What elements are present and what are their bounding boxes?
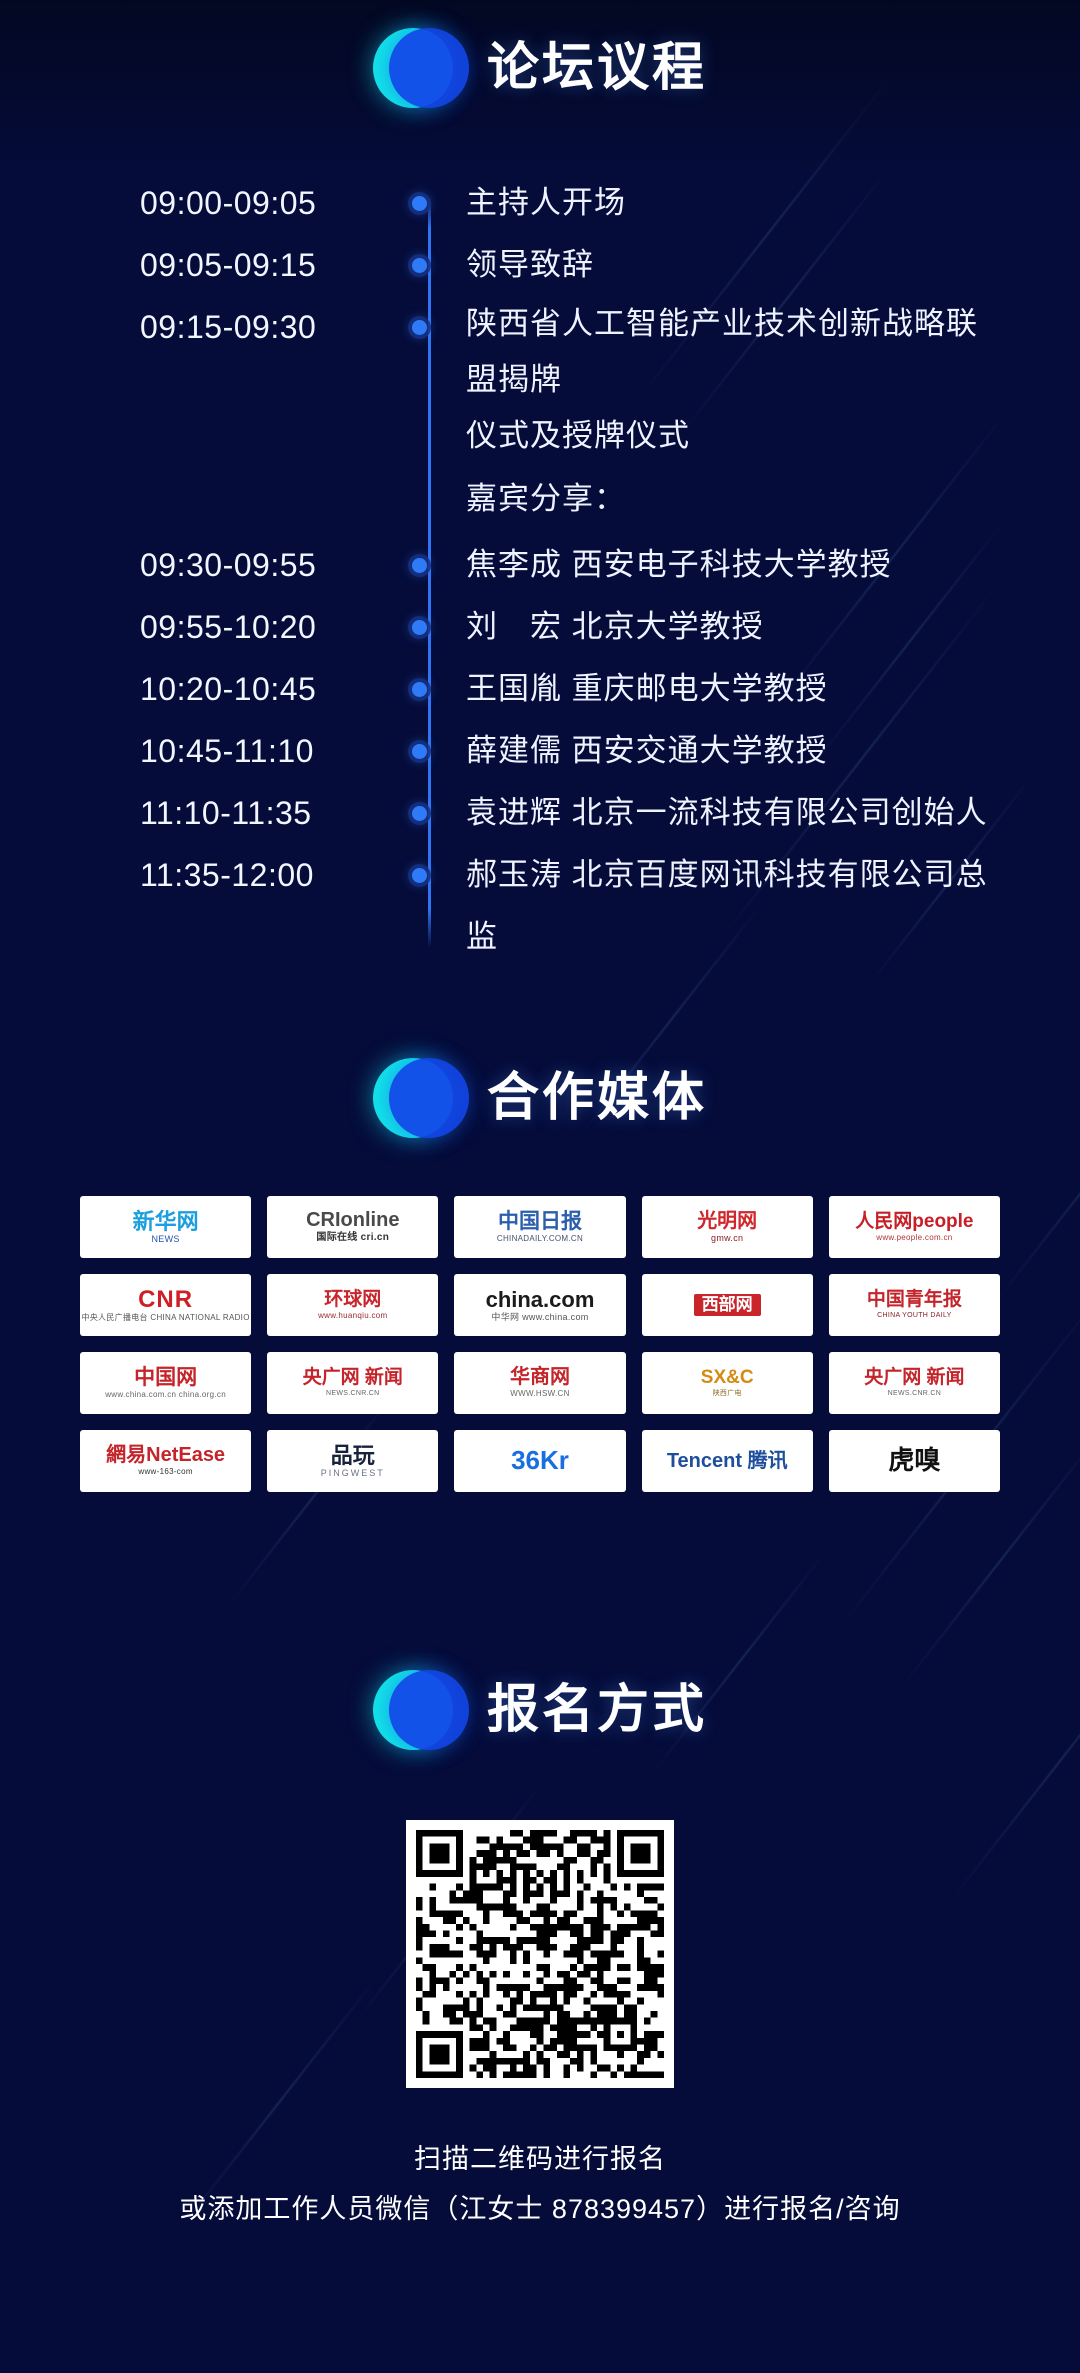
agenda-row: 09:00-09:05主持人开场 — [80, 172, 1000, 234]
media-section: 合作媒体 新华网NEWSCRIonline国际在线 cri.cn中国日报CHIN… — [0, 1058, 1080, 1492]
media-logo-sub: CHINADAILY.COM.CN — [497, 1235, 583, 1243]
media-logo-xibu-icon: 西部网 — [694, 1294, 761, 1316]
overlapping-circles-logo-icon — [373, 1058, 469, 1138]
media-logo-name: 網易NetEase — [106, 1445, 225, 1466]
timeline-dot-icon — [412, 744, 427, 759]
agenda-row: 09:15-09:30陕西省人工智能产业技术创新战略联盟揭牌 仪式及授牌仪式 — [80, 296, 1000, 464]
agenda-row-time: 09:00-09:05 — [80, 172, 396, 234]
registration-qr-code[interactable] — [406, 1820, 674, 2088]
agenda-row-marker — [396, 534, 460, 596]
media-logo-card[interactable]: china.com中华网 www.china.com — [454, 1274, 625, 1336]
media-header: 合作媒体 — [0, 1058, 1080, 1138]
media-logo-name: CNR — [138, 1287, 193, 1312]
media-logo-name: 品玩 — [331, 1444, 375, 1467]
media-logo-card[interactable]: 央广网 新闻NEWS.CNR.CN — [267, 1352, 438, 1414]
register-notes: 扫描二维码进行报名或添加工作人员微信（江女士 878399457）进行报名/咨询 — [0, 2134, 1080, 2234]
media-logo-sxgc-icon: SX&C陕西广电 — [701, 1368, 754, 1397]
media-logo-name: 中国青年报 — [867, 1290, 962, 1310]
overlapping-circles-logo-icon — [373, 28, 469, 108]
media-logo-card[interactable]: 36Kr — [454, 1430, 625, 1492]
timeline-dot-icon — [412, 258, 427, 273]
media-logo-sub: 中央人民广播电台 CHINA NATIONAL RADIO — [81, 1314, 249, 1322]
agenda-row-marker — [396, 596, 460, 658]
media-logo-tencent-icon: Tencent 腾讯 — [667, 1451, 788, 1472]
agenda-row-marker — [396, 720, 460, 782]
media-logo-sub: NEWS — [151, 1235, 179, 1244]
timeline-dot-icon — [412, 806, 427, 821]
media-logo-huxiu-icon: 虎嗅 — [888, 1447, 940, 1474]
media-logo-sub: CHINA YOUTH DAILY — [877, 1312, 951, 1319]
media-logo-name: Tencent 腾讯 — [667, 1451, 788, 1472]
media-logo-yangguang2-icon: 央广网 新闻NEWS.CNR.CN — [864, 1368, 964, 1397]
media-logo-sub: 国际在线 cri.cn — [316, 1233, 389, 1244]
media-logo-card[interactable]: 虎嗅 — [829, 1430, 1000, 1492]
media-logo-chinacom-icon: china.com中华网 www.china.com — [486, 1288, 595, 1323]
media-logo-chinadaily-icon: 中国日报CHINADAILY.COM.CN — [497, 1211, 583, 1243]
media-logo-card[interactable]: SX&C陕西广电 — [642, 1352, 813, 1414]
register-section: 报名方式 扫描二维码进行报名或添加工作人员微信（江女士 878399457）进行… — [0, 1670, 1080, 2234]
agenda-row-marker — [396, 464, 460, 526]
agenda-row-marker — [396, 296, 460, 358]
media-logo-name: CRIonline — [306, 1210, 399, 1231]
agenda-row-marker — [396, 234, 460, 296]
media-logo-name: 央广网 新闻 — [864, 1368, 964, 1388]
media-logo-xinhua-icon: 新华网NEWS — [133, 1210, 199, 1245]
agenda-row-text: 袁进辉 北京一流科技有限公司创始人 — [460, 782, 1000, 844]
register-note-line: 扫描二维码进行报名 — [0, 2134, 1080, 2184]
media-logo-sub: 陕西广电 — [713, 1390, 742, 1397]
timeline-dot-icon — [412, 558, 427, 573]
agenda-row-time: 11:35-12:00 — [80, 844, 396, 906]
overlapping-circles-logo-icon — [373, 1670, 469, 1750]
media-logo-36kr-icon: 36Kr — [511, 1447, 569, 1474]
timeline-dot-icon — [412, 620, 427, 635]
agenda-row-time: 09:55-10:20 — [80, 596, 396, 658]
timeline-dot-icon — [412, 868, 427, 883]
agenda-row-marker — [396, 172, 460, 234]
agenda-row: 09:30-09:55焦李成 西安电子科技大学教授 — [80, 534, 1000, 596]
media-logo-card[interactable]: 西部网 — [642, 1274, 813, 1336]
media-logo-card[interactable]: 中国网www.china.com.cn china.org.cn — [80, 1352, 251, 1414]
media-logo-card[interactable]: Tencent 腾讯 — [642, 1430, 813, 1492]
media-logo-sub: www.huanqiu.com — [318, 1312, 387, 1320]
media-logo-card[interactable]: 網易NetEasewww-163-com — [80, 1430, 251, 1492]
agenda-row: 11:10-11:35袁进辉 北京一流科技有限公司创始人 — [80, 782, 1000, 844]
timeline-dot-icon — [412, 196, 427, 211]
media-logo-card[interactable]: 中国日报CHINADAILY.COM.CN — [454, 1196, 625, 1258]
media-logo-cri-icon: CRIonline国际在线 cri.cn — [306, 1210, 399, 1244]
media-logo-yangguang-icon: 央广网 新闻NEWS.CNR.CN — [303, 1368, 403, 1397]
media-logo-card[interactable]: 央广网 新闻NEWS.CNR.CN — [829, 1352, 1000, 1414]
agenda-row-time: 10:45-11:10 — [80, 720, 396, 782]
media-logo-name: 央广网 新闻 — [303, 1368, 403, 1388]
media-logo-gmw-icon: 光明网gmw.cn — [697, 1211, 757, 1243]
media-logo-card[interactable]: 环球网www.huanqiu.com — [267, 1274, 438, 1336]
agenda-row-marker — [396, 844, 460, 906]
media-logo-chinanet-icon: 中国网www.china.com.cn china.org.cn — [105, 1367, 226, 1399]
media-logo-sub: www.people.com.cn — [876, 1234, 952, 1242]
media-logo-pingwest-icon: 品玩PINGWEST — [321, 1444, 385, 1479]
timeline-dot-icon — [412, 320, 427, 335]
media-logo-name: 西部网 — [694, 1294, 761, 1316]
agenda-row-text: 嘉宾分享： — [460, 464, 1000, 534]
agenda-row-time: 09:30-09:55 — [80, 534, 396, 596]
media-logo-name: 新华网 — [133, 1210, 199, 1233]
media-logo-name: 中国日报 — [498, 1211, 582, 1233]
media-logo-name: 36Kr — [511, 1447, 569, 1474]
agenda-section: 论坛议程 09:00-09:05主持人开场09:05-09:15领导致辞09:1… — [0, 28, 1080, 968]
media-title: 合作媒体 — [487, 1072, 707, 1124]
agenda-title: 论坛议程 — [487, 42, 707, 94]
media-logo-card[interactable]: 华商网WWW.HSW.CN — [454, 1352, 625, 1414]
timeline-dot-icon — [412, 682, 427, 697]
agenda-row-text: 焦李成 西安电子科技大学教授 — [460, 534, 1000, 596]
agenda-row: 10:45-11:10薛建儒 西安交通大学教授 — [80, 720, 1000, 782]
media-logo-hsw-icon: 华商网WWW.HSW.CN — [510, 1367, 570, 1398]
agenda-row-time: 09:05-09:15 — [80, 234, 396, 296]
media-logo-card[interactable]: 新华网NEWS — [80, 1196, 251, 1258]
media-logo-sub: NEWS.CNR.CN — [888, 1390, 941, 1397]
agenda-row-text: 薛建儒 西安交通大学教授 — [460, 720, 1000, 782]
media-logo-name: 环球网 — [324, 1290, 381, 1310]
agenda-row-text: 陕西省人工智能产业技术创新战略联盟揭牌 仪式及授牌仪式 — [460, 296, 1000, 464]
agenda-row: 嘉宾分享： — [80, 464, 1000, 534]
agenda-row-text: 主持人开场 — [460, 172, 1000, 234]
media-logo-name: 人民网people — [855, 1212, 973, 1232]
media-logo-name: 虎嗅 — [888, 1447, 940, 1474]
agenda-row-text: 刘 宏 北京大学教授 — [460, 596, 1000, 658]
media-logo-card[interactable]: 人民网peoplewww.people.com.cn — [829, 1196, 1000, 1258]
agenda-row-time: 10:20-10:45 — [80, 658, 396, 720]
media-logo-sub: PINGWEST — [321, 1469, 385, 1478]
media-logo-sub: www-163-com — [138, 1468, 192, 1476]
media-logo-sub: NEWS.CNR.CN — [326, 1390, 379, 1397]
agenda-row-text: 王国胤 重庆邮电大学教授 — [460, 658, 1000, 720]
media-logo-name: 华商网 — [510, 1367, 570, 1388]
agenda-row-marker — [396, 658, 460, 720]
agenda-row-text: 领导致辞 — [460, 234, 1000, 296]
agenda-row: 11:35-12:00郝玉涛 北京百度网讯科技有限公司总监 — [80, 844, 1000, 968]
media-logo-name: 光明网 — [697, 1211, 757, 1232]
media-logo-name: 中国网 — [134, 1367, 197, 1389]
media-logo-card[interactable]: 品玩PINGWEST — [267, 1430, 438, 1492]
media-logo-sub: www.china.com.cn china.org.cn — [105, 1391, 226, 1399]
register-note-line: 或添加工作人员微信（江女士 878399457）进行报名/咨询 — [0, 2184, 1080, 2234]
agenda-list: 09:00-09:05主持人开场09:05-09:15领导致辞09:15-09:… — [80, 172, 1000, 968]
media-logo-sub: gmw.cn — [711, 1234, 743, 1243]
agenda-row-text: 郝玉涛 北京百度网讯科技有限公司总监 — [460, 844, 1000, 968]
media-logo-card[interactable]: CNR中央人民广播电台 CHINA NATIONAL RADIO — [80, 1274, 251, 1336]
agenda-row: 09:55-10:20刘 宏 北京大学教授 — [80, 596, 1000, 658]
agenda-row: 10:20-10:45王国胤 重庆邮电大学教授 — [80, 658, 1000, 720]
media-logo-youth-icon: 中国青年报CHINA YOUTH DAILY — [867, 1290, 962, 1319]
qr-canvas — [416, 1830, 664, 2078]
agenda-row-marker — [396, 782, 460, 844]
media-logo-card[interactable]: 光明网gmw.cn — [642, 1196, 813, 1258]
media-logo-people-icon: 人民网peoplewww.people.com.cn — [855, 1212, 973, 1242]
media-logo-sub: 中华网 www.china.com — [491, 1313, 588, 1322]
agenda-header: 论坛议程 — [0, 28, 1080, 108]
agenda-row: 09:05-09:15领导致辞 — [80, 234, 1000, 296]
media-logo-sub: WWW.HSW.CN — [510, 1390, 569, 1398]
agenda-row-time: 09:15-09:30 — [80, 296, 396, 358]
media-logo-huanqiu-icon: 环球网www.huanqiu.com — [318, 1290, 387, 1320]
media-logo-card[interactable]: 中国青年报CHINA YOUTH DAILY — [829, 1274, 1000, 1336]
agenda-row-time: 11:10-11:35 — [80, 782, 396, 844]
media-logo-grid: 新华网NEWSCRIonline国际在线 cri.cn中国日报CHINADAIL… — [80, 1196, 1000, 1492]
media-logo-name: china.com — [486, 1288, 595, 1311]
media-logo-netease-icon: 網易NetEasewww-163-com — [106, 1445, 225, 1476]
media-logo-card[interactable]: CRIonline国际在线 cri.cn — [267, 1196, 438, 1258]
register-title: 报名方式 — [487, 1684, 707, 1736]
media-logo-name: SX&C — [701, 1368, 754, 1388]
media-logo-cnr-icon: CNR中央人民广播电台 CHINA NATIONAL RADIO — [81, 1287, 249, 1323]
register-header: 报名方式 — [0, 1670, 1080, 1750]
